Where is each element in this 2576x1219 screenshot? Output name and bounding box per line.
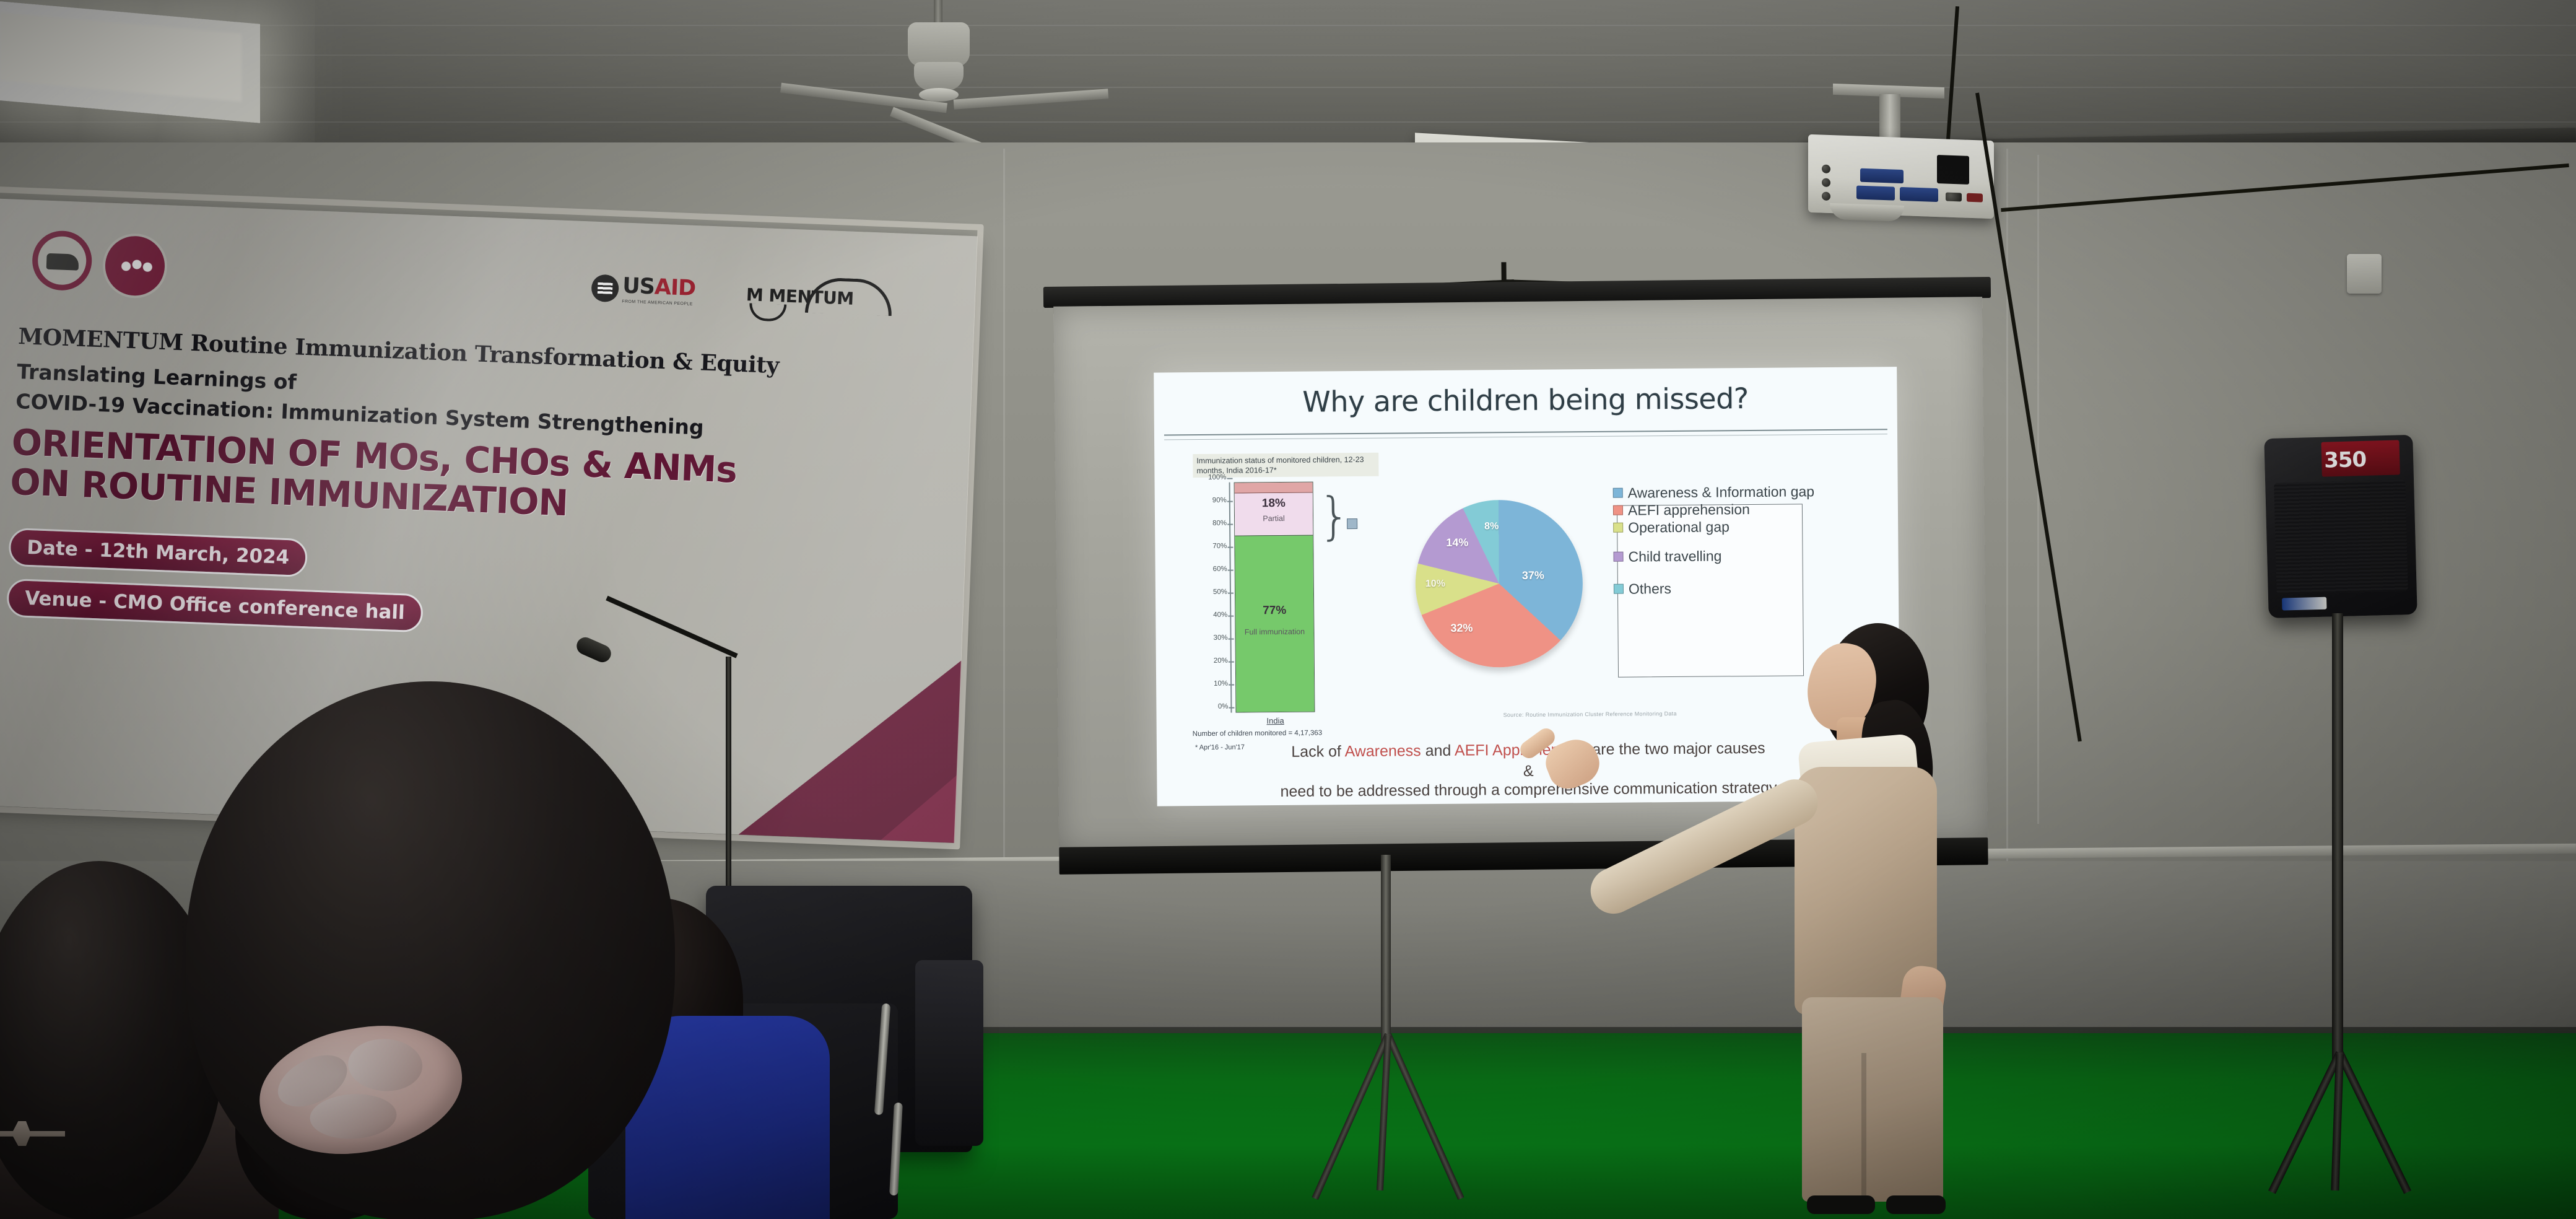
speaker-model-badge: 350 — [2321, 440, 2400, 476]
banner-venue-pill: Venue - CMO Office conference hall — [6, 579, 424, 633]
caption-seg-a: Lack of — [1291, 743, 1344, 761]
legend-item-travelling: Child travelling — [1613, 548, 1817, 565]
bar-ytick: 50% — [1213, 588, 1227, 596]
bar-segment-full-value: 77% — [1235, 604, 1313, 618]
presentation-room-photo: Why are children being missed? Immunizat… — [0, 0, 2576, 1219]
audience-person-2-head — [186, 681, 675, 1219]
legend-swatch-awareness-icon — [1613, 488, 1623, 498]
banner-subtitle-line1: Translating Learnings of — [17, 359, 297, 394]
pie-value-awareness: 37% — [1522, 569, 1544, 582]
momentum-swoosh-icon — [749, 303, 786, 321]
speaker-brand-logo-icon — [2282, 597, 2326, 611]
presenter — [1715, 619, 1975, 1214]
legend-label-aefi: AEFI apprehension — [1628, 502, 1750, 518]
caption-seg-b: and — [1421, 742, 1455, 759]
slide-title: Why are children being missed? — [1154, 380, 1897, 419]
wall-power-socket — [2347, 254, 2382, 294]
sofa-armrest — [915, 960, 983, 1146]
usaid-us-text: US — [622, 273, 655, 299]
pie-chart: 37% 32% 10% 14% 8% — [1415, 499, 1583, 668]
legend-swatch-travelling-icon — [1613, 552, 1623, 562]
national-health-mission-logo-icon — [102, 232, 168, 299]
speaker-stand-pole — [2332, 613, 2343, 1072]
legend-label-travelling: Child travelling — [1628, 549, 1721, 566]
bar-segment-partial-value: 18% — [1235, 496, 1313, 510]
legend-item-others: Others — [1614, 580, 1818, 597]
bar-xaxis-label: India — [1236, 716, 1315, 726]
bar-ytick: 30% — [1213, 634, 1227, 642]
speaker-model-number: 350 — [2324, 446, 2400, 473]
usaid-logo: USAID FROM THE AMERICAN PEOPLE — [591, 273, 696, 307]
bar-segment-partial-label: Partial — [1235, 513, 1313, 523]
bar-ytick: 0% — [1218, 703, 1229, 710]
brace-bracket: } — [1318, 491, 1351, 542]
bar-footnote-count: Number of children monitored = 4,17,363 — [1193, 729, 1322, 738]
usaid-mark-icon — [591, 274, 619, 302]
legend-swatch-aefi-icon — [1613, 505, 1623, 515]
usaid-aid-text: AID — [654, 274, 696, 301]
bar-ytick: 90% — [1212, 497, 1227, 504]
pie-chart-legend: Awareness & Information gap AEFI apprehe… — [1613, 484, 1818, 598]
brace-marker-box — [1347, 518, 1357, 529]
pie-value-operational: 10% — [1425, 579, 1445, 590]
bar-ytick: 60% — [1213, 566, 1227, 573]
legend-label-operational: Operational gap — [1628, 519, 1730, 536]
speaker-grille — [2274, 479, 2408, 594]
legend-item-operational: Operational gap — [1613, 518, 1817, 536]
bar-ytick: 80% — [1212, 520, 1227, 527]
legend-swatch-operational-icon — [1613, 522, 1623, 532]
bar-segment-full: 77% Full immunization — [1235, 535, 1314, 712]
momentum-arc-icon — [805, 277, 893, 316]
bar-segment-full-label: Full immunization — [1235, 627, 1313, 637]
government-emblem-icon — [31, 230, 93, 292]
banner-date-pill: Date - 12th March, 2024 — [8, 528, 308, 577]
projector-lens-housing — [1830, 203, 1904, 222]
presenter-shoe-right — [1886, 1195, 1946, 1214]
pie-value-travelling: 14% — [1446, 536, 1468, 549]
slide-source-note: Source: Routine Immunization Cluster Ref… — [1503, 710, 1677, 718]
legend-label-others: Others — [1629, 581, 1671, 597]
momentum-logo: M MENTUM — [746, 284, 901, 311]
ceiling-fan — [855, 0, 1028, 142]
caption-hl-awareness: Awareness — [1344, 742, 1421, 760]
bar-segment-none — [1235, 483, 1313, 494]
presenter-shoe-left — [1807, 1195, 1875, 1214]
legend-item-aefi: AEFI apprehension — [1613, 501, 1817, 518]
screen-tripod-stand — [1226, 855, 1548, 1214]
pie-value-others: 8% — [1484, 521, 1499, 532]
legend-item-awareness: Awareness & Information gap — [1613, 484, 1817, 501]
bar-ytick: 20% — [1214, 657, 1228, 665]
bar-ytick: 10% — [1214, 680, 1228, 688]
bar-segment-partial: 18% Partial — [1235, 492, 1313, 535]
legend-label-awareness: Awareness & Information gap — [1628, 484, 1815, 501]
legend-swatch-others-icon — [1614, 584, 1624, 594]
pie-value-aefi: 32% — [1450, 622, 1473, 635]
pa-speaker-cabinet: 350 — [2264, 435, 2417, 618]
bar-ytick: 70% — [1212, 543, 1227, 550]
tripod-center-post — [1381, 855, 1391, 1041]
presenter-trousers — [1802, 997, 1943, 1202]
stacked-bar-chart: Immunization status of monitored childre… — [1190, 452, 1403, 745]
projector-mount-arm — [1879, 94, 1900, 141]
bar-ytick: 40% — [1213, 611, 1227, 619]
bar-ytick: 100% — [1208, 474, 1227, 481]
bar-column-india: 18% Partial 77% Full immunization — [1234, 482, 1315, 713]
